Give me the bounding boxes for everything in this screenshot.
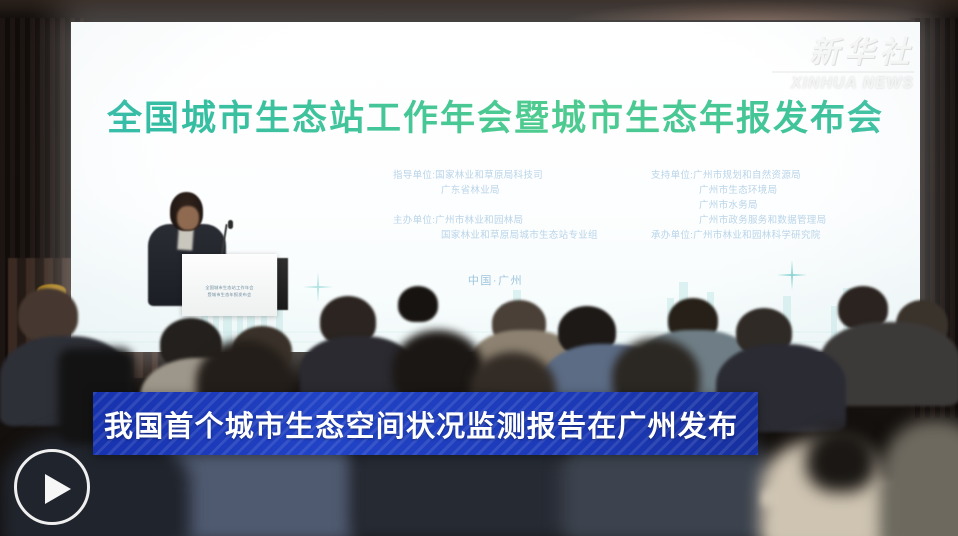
xinhua-watermark: 新华社 XINHUA NEWS <box>772 36 914 93</box>
watermark-english-text: XINHUA NEWS <box>772 75 914 93</box>
audience-head <box>18 288 78 342</box>
play-icon <box>45 474 71 504</box>
watermark-chinese-text: 新华社 <box>772 36 914 70</box>
watermark-divider <box>772 71 914 73</box>
foreground-figure-far-right <box>880 420 958 536</box>
foreground-head-right <box>806 428 876 492</box>
video-still-frame: 全国城市生态站工作年会暨城市生态年报发布会 指导单位:国家林业和草原局科技司 广… <box>0 0 958 536</box>
caption-banner: 我国首个城市生态空间状况监测报告在广州发布 <box>93 392 758 455</box>
caption-headline: 我国首个城市生态空间状况监测报告在广州发布 <box>93 403 738 445</box>
play-button[interactable] <box>14 449 90 525</box>
audience-head <box>398 286 438 322</box>
